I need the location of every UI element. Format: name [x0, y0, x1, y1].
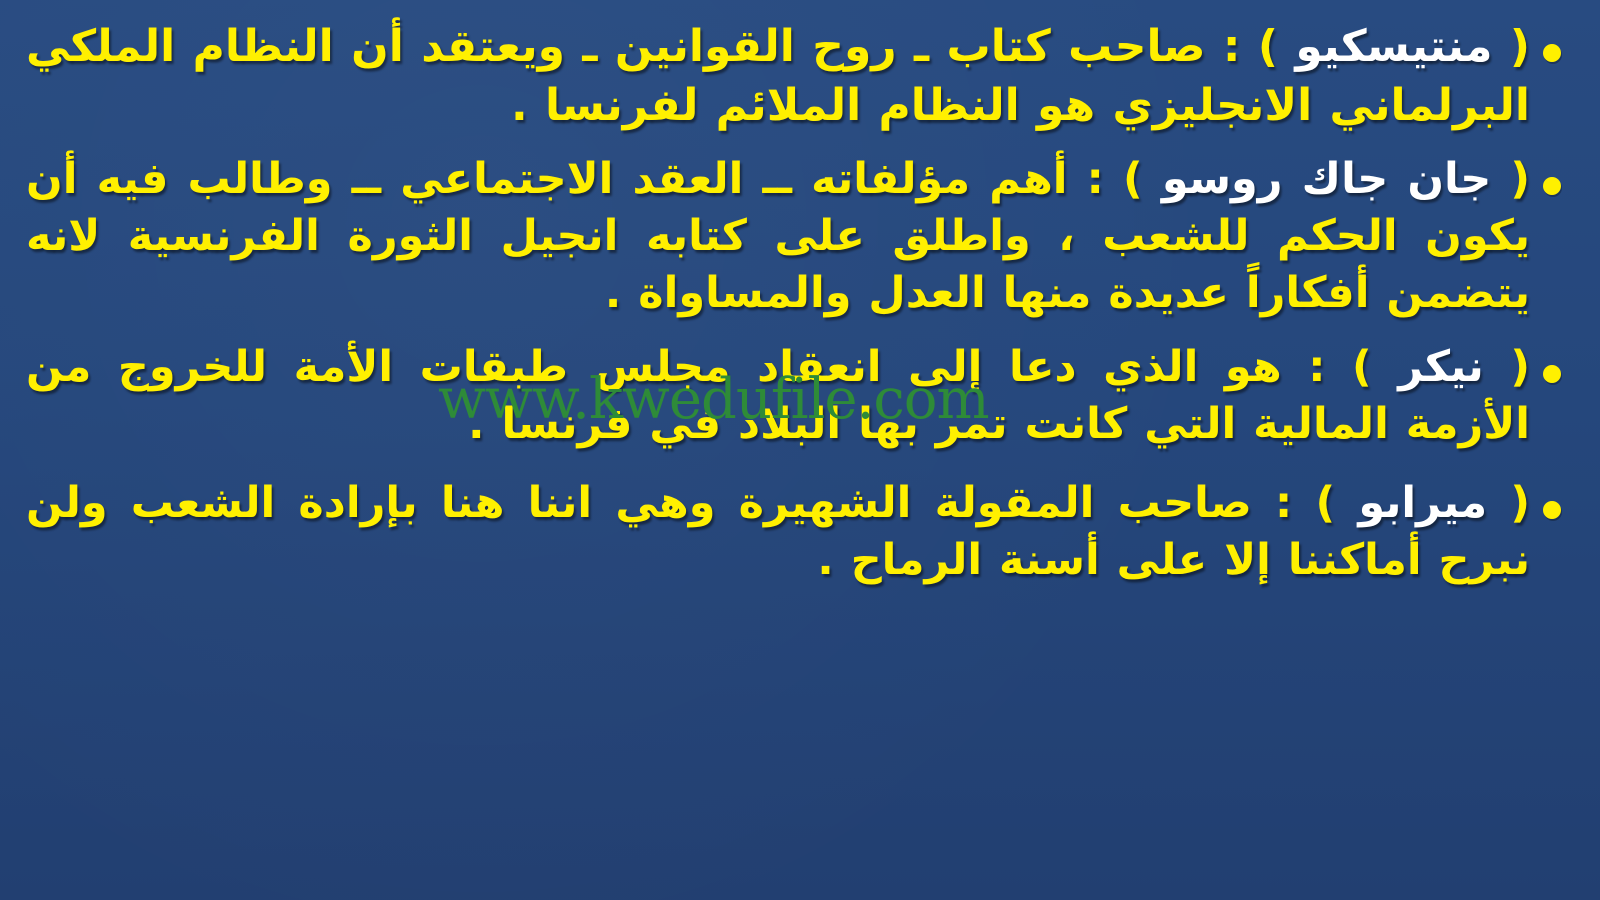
- open-paren: (: [1510, 154, 1530, 204]
- close-paren: ): [1315, 478, 1335, 528]
- name-separator: :: [1206, 21, 1258, 72]
- person-name: جان جاك روسو: [1162, 154, 1491, 204]
- person-name: ميرابو: [1358, 478, 1487, 528]
- open-paren: (: [1510, 342, 1530, 392]
- close-paren: ): [1258, 21, 1278, 72]
- person-name: نيكر: [1398, 342, 1483, 392]
- name-separator: :: [1252, 478, 1316, 528]
- close-paren: ): [1352, 342, 1372, 392]
- close-paren: ): [1123, 154, 1143, 204]
- bullet-text: ( ميرابو ) : صاحب المقولة الشهيرة وهي ان…: [26, 475, 1530, 589]
- bullet-dot-icon: [1543, 501, 1561, 519]
- bullet-marker: [1530, 339, 1574, 383]
- list-item: ( نيكر ) : هو الذي دعا إلى انعقاد مجلس ط…: [26, 339, 1574, 453]
- list-item: ( جان جاك روسو ) : أهم مؤلفاته ــ العقد …: [26, 151, 1574, 323]
- bullet-list: ( منتيسكيو ) : صاحب كتاب ـ روح القوانين …: [26, 18, 1574, 589]
- bullet-text: ( جان جاك روسو ) : أهم مؤلفاته ــ العقد …: [26, 151, 1530, 323]
- bullet-marker: [1530, 475, 1574, 519]
- bullet-marker: [1530, 18, 1574, 62]
- bullet-text: ( منتيسكيو ) : صاحب كتاب ـ روح القوانين …: [26, 18, 1530, 135]
- slide-canvas: ( منتيسكيو ) : صاحب كتاب ـ روح القوانين …: [0, 0, 1600, 900]
- bullet-text: ( نيكر ) : هو الذي دعا إلى انعقاد مجلس ط…: [26, 339, 1530, 453]
- list-item: ( ميرابو ) : صاحب المقولة الشهيرة وهي ان…: [26, 475, 1574, 589]
- open-paren: (: [1510, 478, 1530, 528]
- person-name: منتيسكيو: [1295, 21, 1492, 72]
- open-paren: (: [1510, 21, 1530, 72]
- list-item: ( منتيسكيو ) : صاحب كتاب ـ روح القوانين …: [26, 18, 1574, 135]
- bullet-marker: [1530, 151, 1574, 195]
- bullet-dot-icon: [1543, 44, 1561, 62]
- bullet-dot-icon: [1543, 365, 1561, 383]
- name-separator: :: [1068, 154, 1123, 204]
- name-separator: :: [1282, 342, 1352, 392]
- bullet-dot-icon: [1543, 177, 1561, 195]
